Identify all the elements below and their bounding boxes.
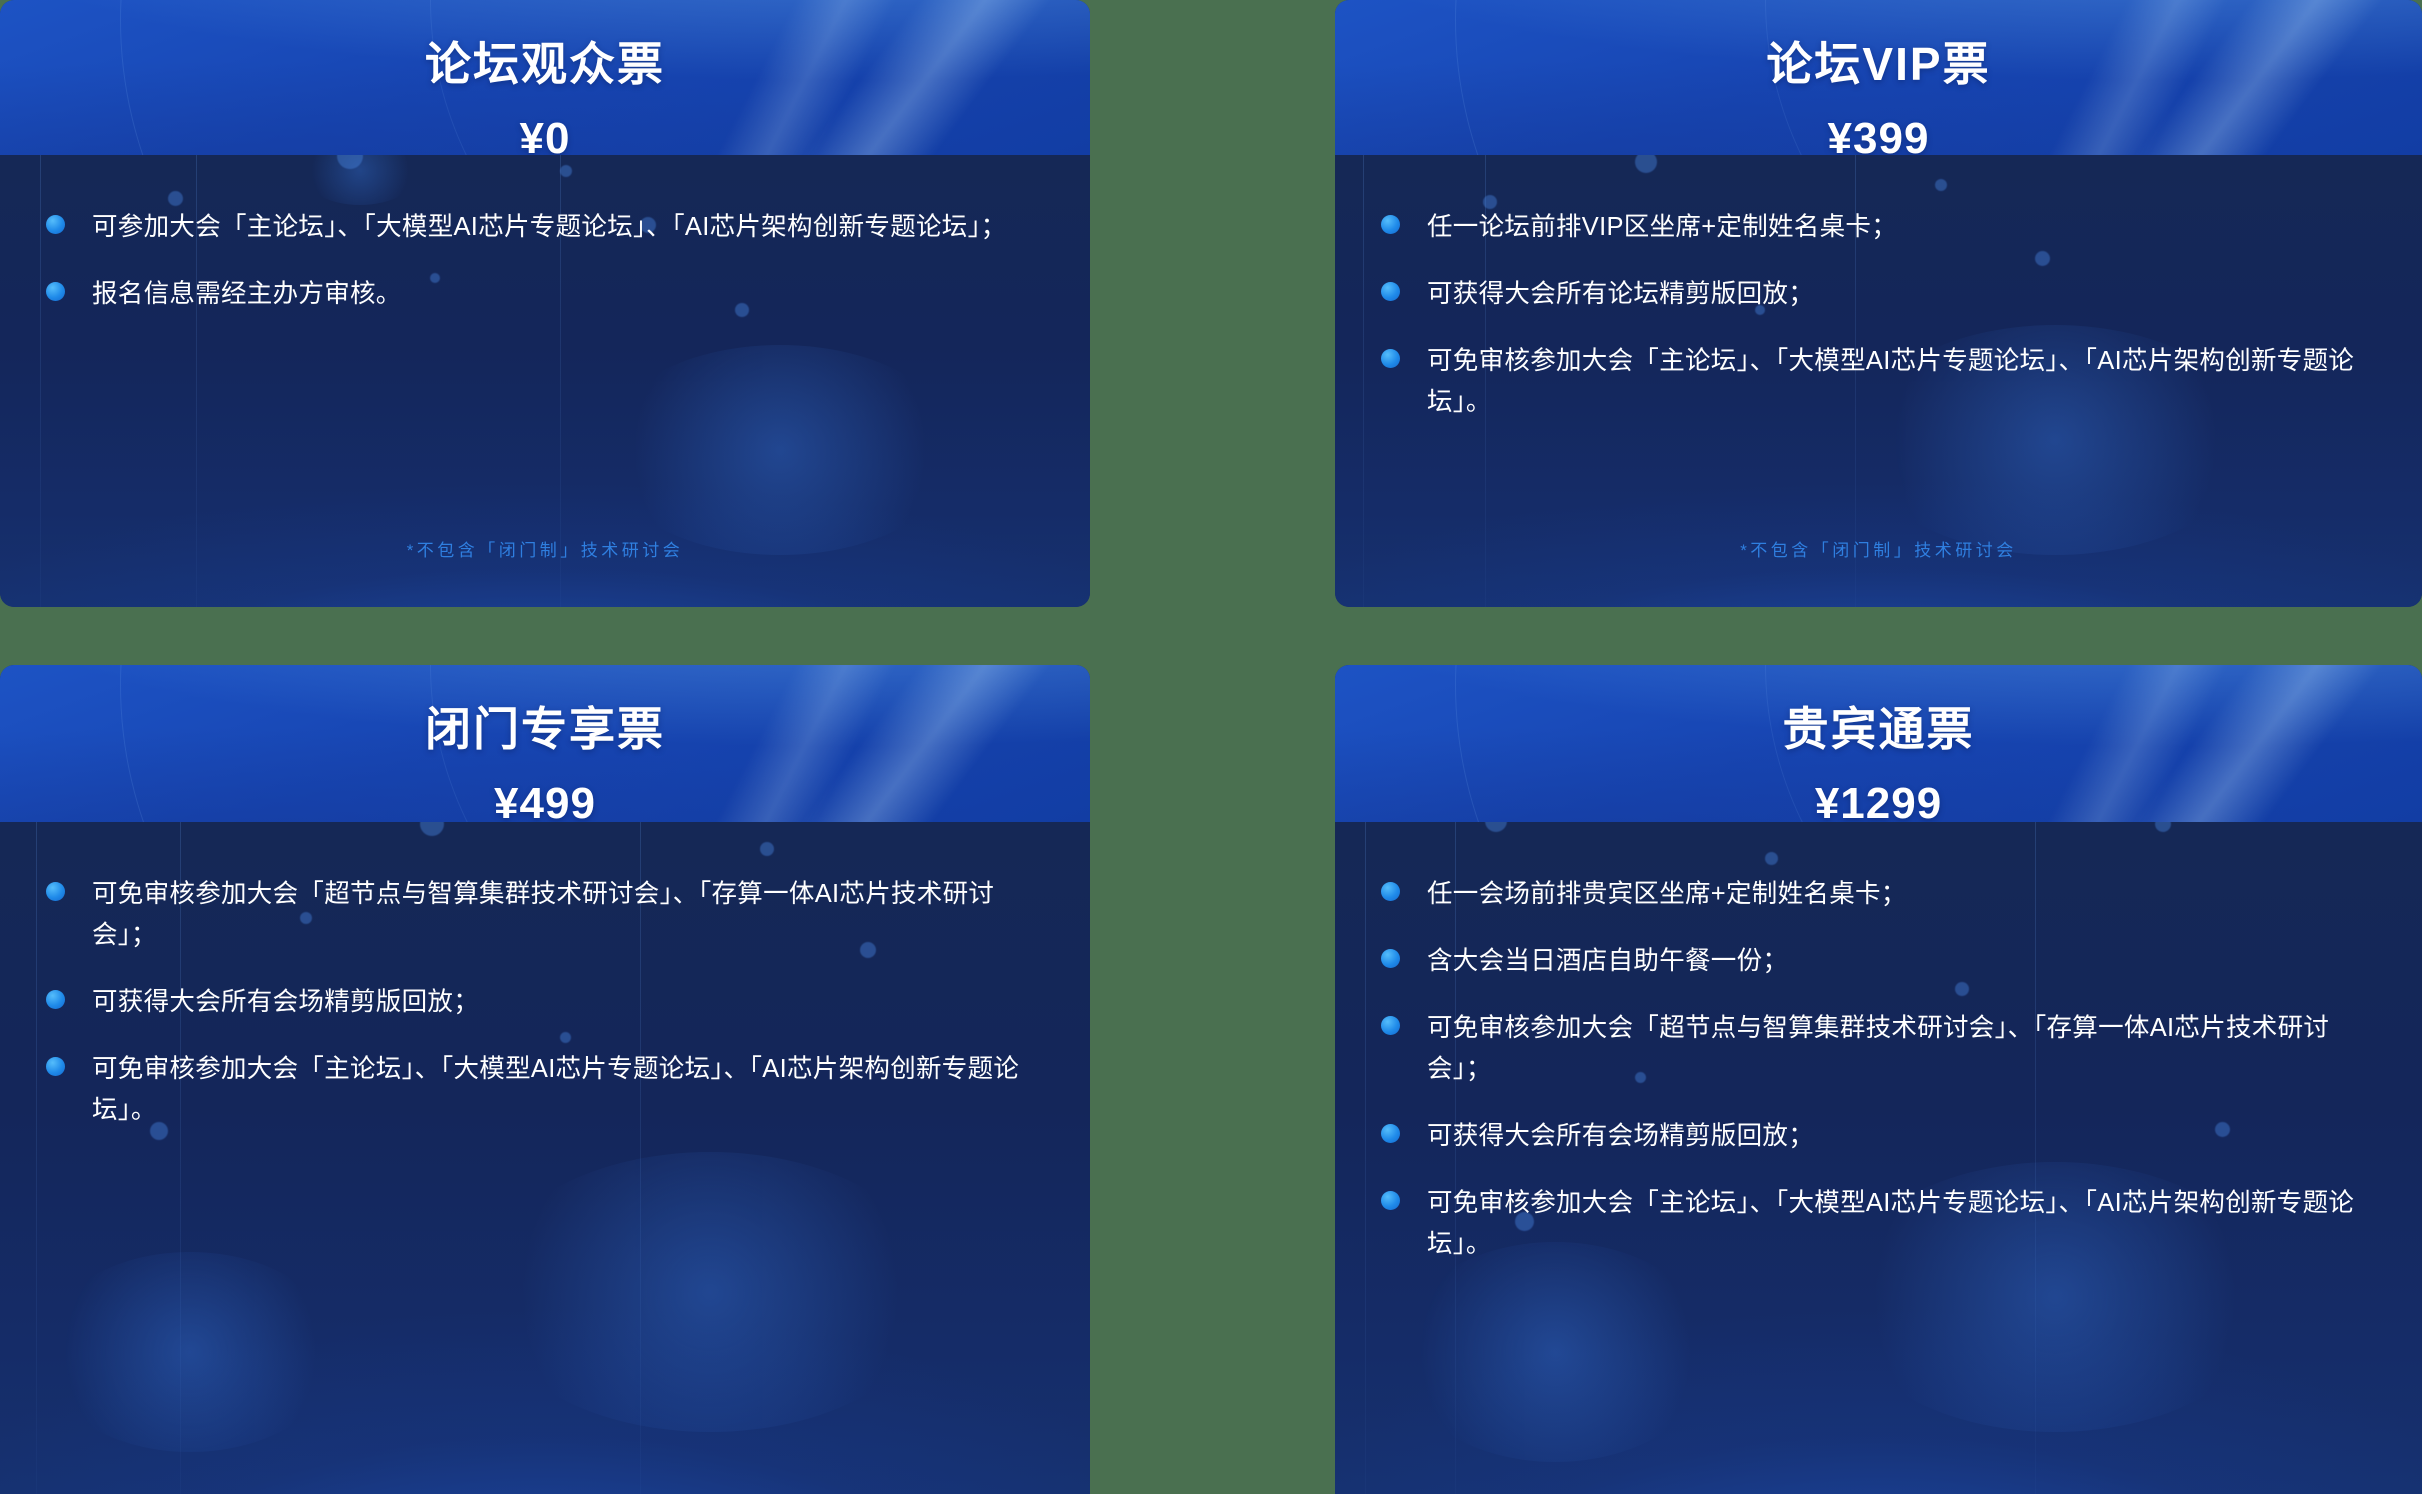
feature-text: 任一会场前排贵宾区坐席+定制姓名桌卡；	[1427, 874, 1907, 915]
bullet-dot-icon	[46, 1057, 65, 1076]
feature-text: 可获得大会所有会场精剪版回放；	[1427, 1116, 1814, 1157]
bullet-dot-icon	[46, 215, 65, 234]
ticket-card-forum-vip[interactable]: 论坛VIP票 ¥399 任一论坛前排VIP区坐席+定制姓名桌卡；	[1335, 0, 2422, 607]
list-item: 任一会场前排贵宾区坐席+定制姓名桌卡；	[1381, 874, 2376, 915]
list-item: 任一论坛前排VIP区坐席+定制姓名桌卡；	[1381, 207, 2376, 248]
list-item: 可免审核参加大会「主论坛」、「大模型AI芯片专题论坛」、「AI芯片架构创新专题论…	[1381, 1183, 2376, 1265]
ticket-title: 论坛观众票	[0, 0, 1090, 94]
bullet-dot-icon	[46, 882, 65, 901]
bullet-dot-icon	[46, 990, 65, 1009]
bullet-dot-icon	[1381, 1191, 1400, 1210]
list-item: 可获得大会所有会场精剪版回放；	[1381, 1116, 2376, 1157]
feature-text: 可获得大会所有论坛精剪版回放；	[1427, 274, 1814, 315]
list-item: 可免审核参加大会「超节点与智算集群技术研讨会」、「存算一体AI芯片技术研讨会」；	[1381, 1008, 2376, 1090]
feature-list: 可参加大会「主论坛」、「大模型AI芯片专题论坛」、「AI芯片架构创新专题论坛」；…	[46, 207, 1044, 315]
ticket-price: ¥399	[1335, 94, 2422, 155]
feature-list: 任一论坛前排VIP区坐席+定制姓名桌卡； 可获得大会所有论坛精剪版回放； 可免审…	[1381, 207, 2376, 423]
bullet-dot-icon	[1381, 282, 1400, 301]
feature-text: 可获得大会所有会场精剪版回放；	[92, 982, 479, 1023]
bullet-dot-icon	[1381, 1124, 1400, 1143]
ticket-price: ¥1299	[1335, 759, 2422, 822]
feature-list: 任一会场前排贵宾区坐席+定制姓名桌卡； 含大会当日酒店自助午餐一份； 可免审核参…	[1381, 874, 2376, 1265]
ticket-card-header: 贵宾通票 ¥1299	[1335, 665, 2422, 822]
list-item: 含大会当日酒店自助午餐一份；	[1381, 941, 2376, 982]
feature-text: 任一论坛前排VIP区坐席+定制姓名桌卡；	[1427, 207, 1897, 248]
ticket-card-body: 任一论坛前排VIP区坐席+定制姓名桌卡； 可获得大会所有论坛精剪版回放； 可免审…	[1335, 155, 2422, 607]
ticket-card-body: 可免审核参加大会「超节点与智算集群技术研讨会」、「存算一体AI芯片技术研讨会」；…	[0, 822, 1090, 1494]
list-item: 报名信息需经主办方审核。	[46, 274, 1044, 315]
feature-text: 含大会当日酒店自助午餐一份；	[1427, 941, 1788, 982]
bullet-dot-icon	[1381, 215, 1400, 234]
bullet-dot-icon	[1381, 1016, 1400, 1035]
bullet-dot-icon	[1381, 882, 1400, 901]
list-item: 可免审核参加大会「主论坛」、「大模型AI芯片专题论坛」、「AI芯片架构创新专题论…	[46, 1049, 1044, 1131]
bullet-dot-icon	[1381, 949, 1400, 968]
ticket-title: 闭门专享票	[0, 665, 1090, 759]
ticket-price: ¥0	[0, 94, 1090, 155]
ticket-card-header: 论坛VIP票 ¥399	[1335, 0, 2422, 155]
bullet-dot-icon	[46, 282, 65, 301]
feature-text: 可免审核参加大会「主论坛」、「大模型AI芯片专题论坛」、「AI芯片架构创新专题论…	[92, 1049, 1044, 1131]
ticket-card-vip-all-access[interactable]: 贵宾通票 ¥1299 任一会场前排贵宾区坐席+定制	[1335, 665, 2422, 1494]
feature-list: 可免审核参加大会「超节点与智算集群技术研讨会」、「存算一体AI芯片技术研讨会」；…	[46, 874, 1044, 1131]
ticket-card-forum-audience[interactable]: 论坛观众票 ¥0 可参加大会「主论坛」、「大模型AI芯片专题论坛」、	[0, 0, 1090, 607]
feature-text: 可免审核参加大会「主论坛」、「大模型AI芯片专题论坛」、「AI芯片架构创新专题论…	[1427, 1183, 2376, 1265]
ticket-card-body: 可参加大会「主论坛」、「大模型AI芯片专题论坛」、「AI芯片架构创新专题论坛」；…	[0, 155, 1090, 607]
feature-text: 报名信息需经主办方审核。	[92, 274, 402, 315]
feature-text: 可免审核参加大会「主论坛」、「大模型AI芯片专题论坛」、「AI芯片架构创新专题论…	[1427, 341, 2376, 423]
feature-text: 可免审核参加大会「超节点与智算集群技术研讨会」、「存算一体AI芯片技术研讨会」；	[92, 874, 1044, 956]
ticket-card-body: 任一会场前排贵宾区坐席+定制姓名桌卡； 含大会当日酒店自助午餐一份； 可免审核参…	[1335, 822, 2422, 1494]
ticket-price: ¥499	[0, 759, 1090, 822]
feature-text: 可参加大会「主论坛」、「大模型AI芯片专题论坛」、「AI芯片架构创新专题论坛」；	[92, 207, 1006, 248]
list-item: 可获得大会所有会场精剪版回放；	[46, 982, 1044, 1023]
feature-text: 可免审核参加大会「超节点与智算集群技术研讨会」、「存算一体AI芯片技术研讨会」；	[1427, 1008, 2376, 1090]
card-footnote: *不包含「闭门制」技术研讨会	[0, 536, 1090, 561]
ticket-pricing-grid: 论坛观众票 ¥0 可参加大会「主论坛」、「大模型AI芯片专题论坛」、	[0, 0, 2422, 1494]
ticket-card-header: 闭门专享票 ¥499	[0, 665, 1090, 822]
list-item: 可参加大会「主论坛」、「大模型AI芯片专题论坛」、「AI芯片架构创新专题论坛」；	[46, 207, 1044, 248]
ticket-card-header: 论坛观众票 ¥0	[0, 0, 1090, 155]
ticket-card-closed-door[interactable]: 闭门专享票 ¥499 可免审核参加大会「超节点与智算集群技术研讨会」	[0, 665, 1090, 1494]
bullet-dot-icon	[1381, 349, 1400, 368]
ticket-title: 贵宾通票	[1335, 665, 2422, 759]
list-item: 可免审核参加大会「超节点与智算集群技术研讨会」、「存算一体AI芯片技术研讨会」；	[46, 874, 1044, 956]
card-footnote: *不包含「闭门制」技术研讨会	[1335, 536, 2422, 561]
ticket-title: 论坛VIP票	[1335, 0, 2422, 94]
list-item: 可获得大会所有论坛精剪版回放；	[1381, 274, 2376, 315]
list-item: 可免审核参加大会「主论坛」、「大模型AI芯片专题论坛」、「AI芯片架构创新专题论…	[1381, 341, 2376, 423]
